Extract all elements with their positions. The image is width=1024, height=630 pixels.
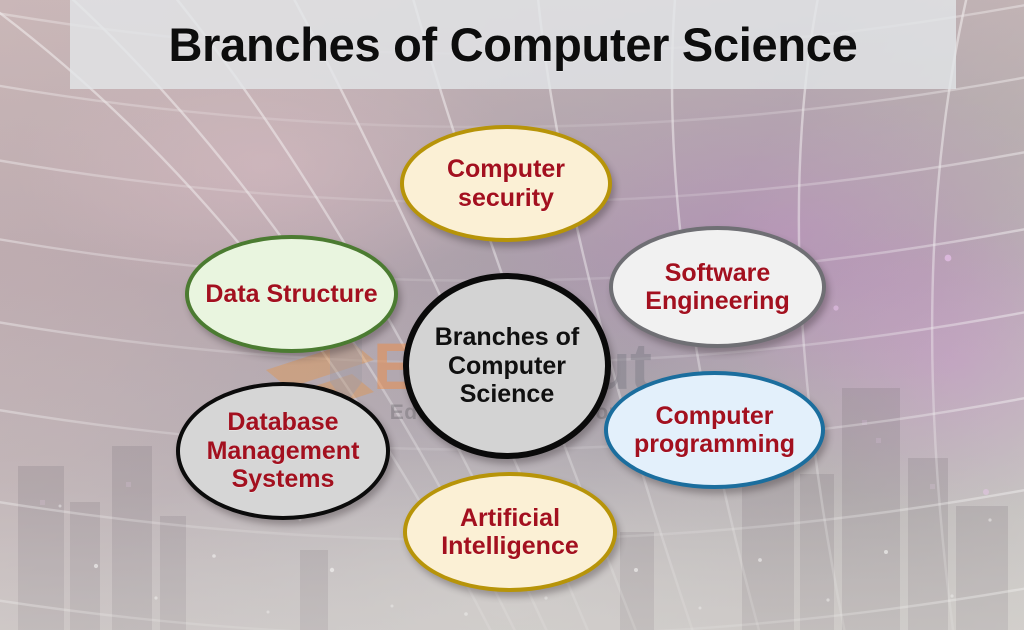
branch-node-computer-security: Computer security [400,125,612,242]
branch-node-database-management-systems: Database Management Systems [176,382,390,520]
branch-node-software-engineering: Software Engineering [609,226,826,348]
branch-node-data-structure: Data Structure [185,235,398,353]
branch-label: Computer security [404,155,608,212]
center-label: Branches of Computer Science [409,323,605,409]
branch-node-computer-programming: Computer programming [604,371,825,489]
page-title: Branches of Computer Science [169,17,858,72]
infographic-canvas: Eduinput Education for everyone Branches… [0,0,1024,630]
branch-node-artificial-intelligence: Artificial Intelligence [403,472,617,592]
center-node-branches-of-computer-science: Branches of Computer Science [403,273,611,459]
branch-label: Computer programming [608,402,821,459]
title-banner: Branches of Computer Science [70,0,956,89]
branch-label: Software Engineering [613,259,822,316]
branch-label: Artificial Intelligence [407,504,613,561]
branch-label: Database Management Systems [180,408,386,494]
branch-label: Data Structure [197,280,385,309]
